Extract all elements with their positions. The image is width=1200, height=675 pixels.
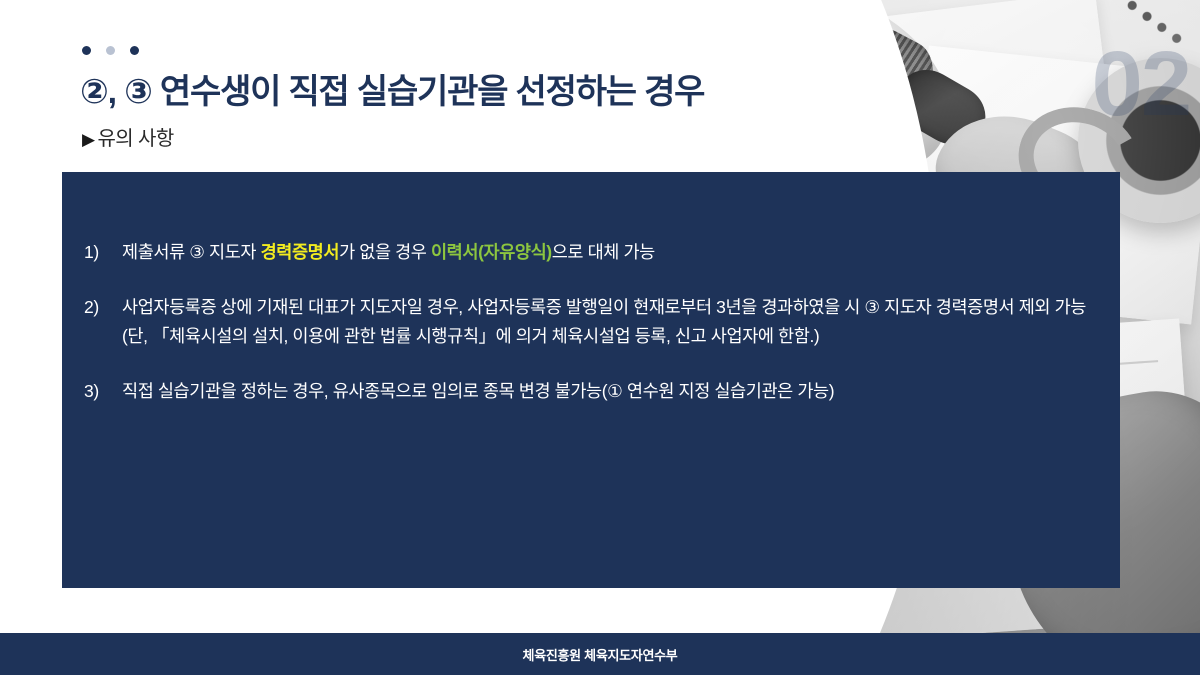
footer-bar: 체육진흥원 체육지도자연수부	[0, 633, 1200, 675]
list-item-text: 사업자등록증 상에 기재된 대표가 지도자일 경우, 사업자등록증 발행일이 현…	[122, 293, 1102, 350]
plain-text: 가 없을 경우	[339, 242, 431, 262]
dot-dark-2	[130, 46, 139, 55]
subtitle-row: ▶유의 사항	[82, 122, 174, 151]
dot-light	[106, 46, 115, 55]
plain-text: 직접 실습기관을 정하는 경우, 유사종목으로 임의로 종목 변경 불가능(① …	[122, 381, 834, 401]
triangle-marker-icon: ▶	[82, 130, 94, 149]
content-list: 1)제출서류 ③ 지도자 경력증명서가 없을 경우 이력서(자유양식)으로 대체…	[84, 238, 1102, 432]
highlight-yellow-text: 경력증명서	[261, 242, 340, 262]
plain-text: 으로 대체 가능	[552, 242, 655, 262]
highlight-green-text: 이력서(자유양식)	[431, 242, 552, 262]
list-item: 3)직접 실습기관을 정하는 경우, 유사종목으로 임의로 종목 변경 불가능(…	[84, 377, 1102, 405]
list-item-number: 2)	[84, 293, 122, 350]
list-item-text: 직접 실습기관을 정하는 경우, 유사종목으로 임의로 종목 변경 불가능(① …	[122, 377, 1102, 405]
dot-dark-1	[82, 46, 91, 55]
header-dots	[82, 46, 139, 55]
content-panel: 1)제출서류 ③ 지도자 경력증명서가 없을 경우 이력서(자유양식)으로 대체…	[62, 172, 1120, 588]
plain-text: 사업자등록증 상에 기재된 대표가 지도자일 경우, 사업자등록증 발행일이 현…	[122, 297, 1086, 345]
plain-text: 제출서류 ③ 지도자	[122, 242, 261, 262]
list-item: 1)제출서류 ③ 지도자 경력증명서가 없을 경우 이력서(자유양식)으로 대체…	[84, 238, 1102, 266]
list-item-text: 제출서류 ③ 지도자 경력증명서가 없을 경우 이력서(자유양식)으로 대체 가…	[122, 238, 1102, 266]
section-number-watermark: 02	[1092, 38, 1190, 130]
list-item: 2)사업자등록증 상에 기재된 대표가 지도자일 경우, 사업자등록증 발행일이…	[84, 293, 1102, 350]
footer-label: 체육진흥원 체육지도자연수부	[523, 645, 678, 664]
slide-root: 02 ②, ③ 연수생이 직접 실습기관을 선정하는 경우 ▶유의 사항 1)제…	[0, 0, 1200, 675]
page-title: ②, ③ 연수생이 직접 실습기관을 선정하는 경우	[80, 64, 704, 113]
list-item-number: 3)	[84, 377, 122, 405]
subtitle-label: 유의 사항	[97, 128, 173, 150]
list-item-number: 1)	[84, 238, 122, 266]
